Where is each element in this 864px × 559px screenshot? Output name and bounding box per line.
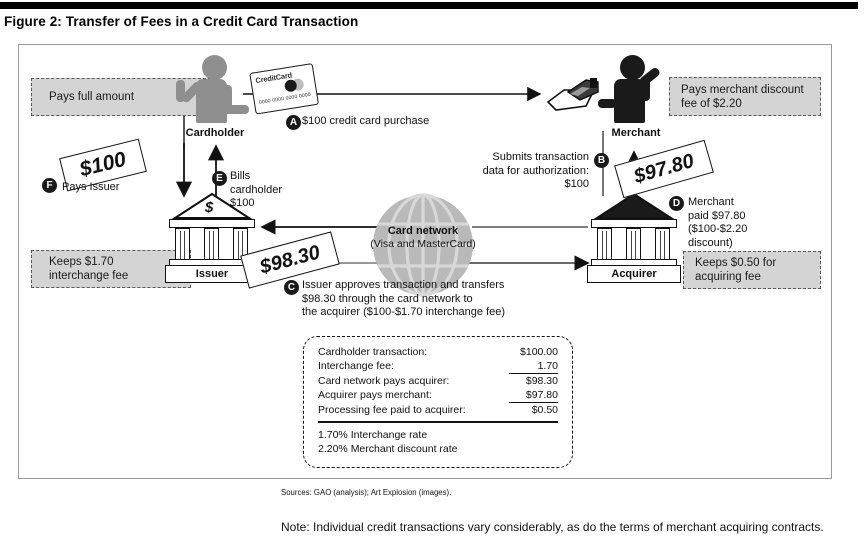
step-badge-f: F	[42, 178, 57, 193]
summary-row-label: Acquirer pays merchant:	[318, 388, 509, 403]
merchant-figure-icon	[598, 55, 676, 123]
cardholder-left-hand-icon	[176, 80, 185, 102]
callout-merchant-discount: Pays merchant discountfee of $2.20	[669, 77, 821, 116]
callout-pays-full-amount-text: Pays full amount	[49, 90, 134, 104]
summary-row: Acquirer pays merchant:$97.80	[318, 388, 558, 403]
step-badge-d: D	[669, 196, 684, 211]
step-badge-c: C	[284, 280, 299, 295]
step-badge-a: A	[286, 115, 301, 130]
callout-merchant-discount-text: Pays merchant discountfee of $2.20	[681, 83, 804, 111]
summary-row-value: $0.50	[509, 403, 558, 418]
step-badge-b: B	[594, 153, 609, 168]
summary-row: Card network pays acquirer:$98.30	[318, 374, 558, 389]
cardholder-figure-icon	[176, 55, 254, 123]
issuer-dollar-icon: $	[205, 199, 213, 216]
callout-keeps-interchange-fee-text: Keeps $1.70interchange fee	[49, 255, 128, 283]
cardholder-head-icon	[202, 55, 227, 80]
step-text-a: $100 credit card purchase	[302, 115, 429, 129]
acquirer-label: Acquirer	[587, 265, 681, 283]
cardholder-right-hand-icon	[223, 105, 249, 114]
figure-note: Note: Individual credit transactions var…	[281, 519, 856, 535]
cardholder-label: Cardholder	[169, 127, 261, 139]
step-text-f: Pays Issuer	[62, 181, 119, 195]
credit-card-icon: CreditCard 0000 0000 0000 0000	[249, 63, 316, 112]
sources-note: Sources: GAO (analysis); Art Explosion (…	[281, 488, 451, 497]
card-network-subtitle: (Visa and MasterCard)	[352, 238, 494, 250]
summary-rate-line: 2.20% Merchant discount rate	[318, 443, 558, 457]
card-network-title: Card network	[352, 225, 494, 237]
step-text-d: Merchantpaid $97.80($100-$2.20discount)	[688, 196, 747, 250]
summary-row-value: $98.30	[509, 374, 558, 389]
merchant-left-arm-icon	[598, 99, 616, 108]
acquirer-roof-icon	[596, 193, 672, 219]
step-badge-e: E	[212, 171, 227, 186]
summary-box: Cardholder transaction:$100.00Interchang…	[303, 336, 573, 468]
step-text-c: Issuer approves transaction and transfer…	[302, 279, 505, 320]
callout-keeps-acquiring-fee: Keeps $0.50 foracquiring fee	[683, 251, 821, 289]
summary-divider	[318, 421, 558, 423]
summary-row: Cardholder transaction:$100.00	[318, 345, 558, 359]
summary-row-value: $100.00	[509, 345, 558, 359]
summary-row: Processing fee paid to acquirer:$0.50	[318, 403, 558, 418]
summary-rate-line: 1.70% Interchange rate	[318, 429, 558, 443]
callout-keeps-acquiring-fee-text: Keeps $0.50 foracquiring fee	[695, 256, 776, 284]
summary-row-label: Interchange fee:	[318, 359, 509, 374]
step-text-b: Submits transactiondata for authorizatio…	[477, 151, 589, 192]
merchant-label: Merchant	[590, 127, 682, 139]
summary-row-label: Cardholder transaction:	[318, 345, 509, 359]
header-rule	[0, 2, 858, 9]
summary-row-value: $97.80	[509, 388, 558, 403]
page-title: Figure 2: Transfer of Fees in a Credit C…	[4, 14, 358, 29]
step-text-e: Billscardholder$100	[230, 170, 282, 211]
summary-row-value: 1.70	[509, 359, 558, 374]
summary-row: Interchange fee:1.70	[318, 359, 558, 374]
summary-table: Cardholder transaction:$100.00Interchang…	[318, 345, 558, 417]
summary-row-label: Card network pays acquirer:	[318, 374, 509, 389]
summary-row-label: Processing fee paid to acquirer:	[318, 403, 509, 418]
card-network-label: Card network (Visa and MasterCard)	[352, 225, 494, 250]
